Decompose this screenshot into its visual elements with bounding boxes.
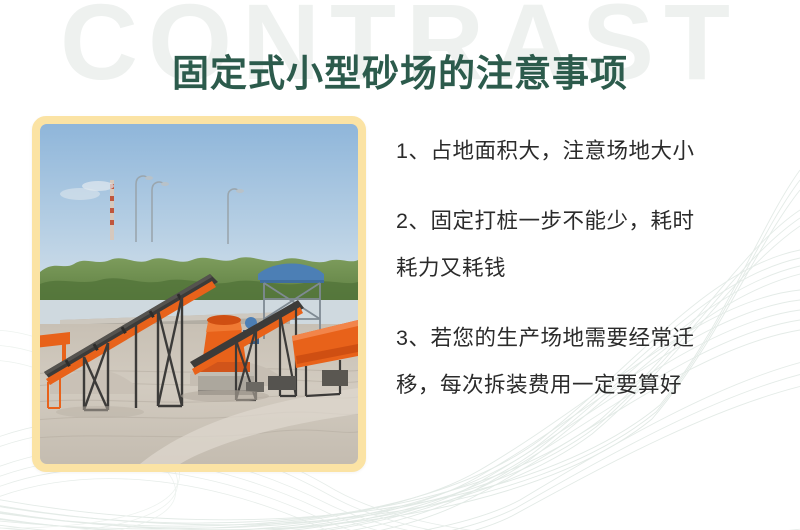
sand-plant-photo	[40, 124, 358, 464]
point-3-line-2: 移，每次拆装费用一定要算好	[396, 362, 778, 409]
photo-frame	[32, 116, 366, 472]
point-2-line-2: 耗力又耗钱	[396, 245, 778, 292]
page-title: 固定式小型砂场的注意事项	[0, 43, 800, 97]
point-2-line-1: 2、固定打桩一步不能少，耗时	[396, 198, 778, 245]
list-item: 3、若您的生产场地需要经常迁 移，每次拆装费用一定要算好	[396, 315, 778, 409]
point-3-line-1: 3、若您的生产场地需要经常迁	[396, 315, 778, 362]
point-1-line-1: 1、占地面积大，注意场地大小	[396, 128, 778, 175]
points-list: 1、占地面积大，注意场地大小 2、固定打桩一步不能少，耗时 耗力又耗钱 3、若您…	[396, 128, 778, 409]
poster-root: CONTRAST 固定式小型砂场的注意事项	[0, 0, 800, 530]
list-item: 1、占地面积大，注意场地大小	[396, 128, 778, 175]
photo-image	[40, 124, 358, 464]
list-item: 2、固定打桩一步不能少，耗时 耗力又耗钱	[396, 198, 778, 292]
